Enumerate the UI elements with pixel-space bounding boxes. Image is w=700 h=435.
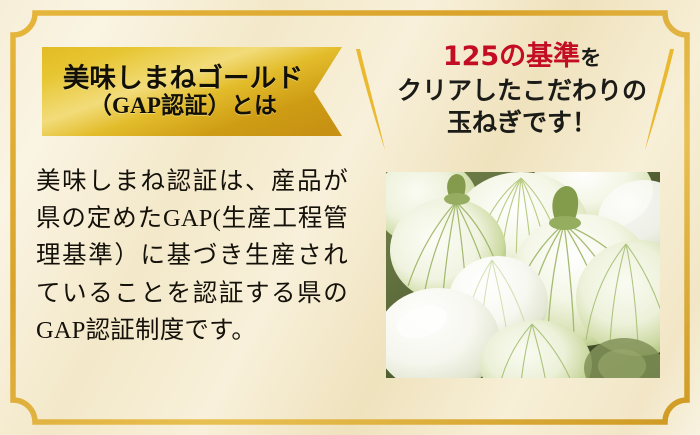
headline-line-1: 125の基準を	[372, 40, 672, 75]
onion-photo	[386, 172, 660, 378]
headline-emphasis: 125の基準	[443, 41, 580, 72]
onion-photo-image	[386, 172, 660, 378]
headline-particle: を	[580, 46, 601, 70]
ribbon-text-group: 美味しまねゴールド （GAP認証）とは	[42, 47, 324, 136]
headline-line-3: 玉ねぎです！	[372, 107, 672, 139]
body-paragraph: 美味しまね認証は、産品が県の定めたGAP(生産工程管理基準）に基づき生産されてい…	[36, 163, 348, 349]
headline-group: 125の基準を クリアしたこだわりの 玉ねぎです！	[372, 40, 672, 139]
headline-line-2: クリアしたこだわりの	[372, 75, 672, 107]
promo-banner: 美味しまねゴールド （GAP認証）とは 美味しまね認証は、産品が県の定めたGAP…	[0, 0, 700, 435]
ribbon-line-1: 美味しまねゴールド	[63, 64, 303, 93]
ribbon-line-2: （GAP認証）とは	[89, 94, 277, 119]
ribbon-headline: 美味しまねゴールド （GAP認証）とは	[42, 47, 342, 136]
